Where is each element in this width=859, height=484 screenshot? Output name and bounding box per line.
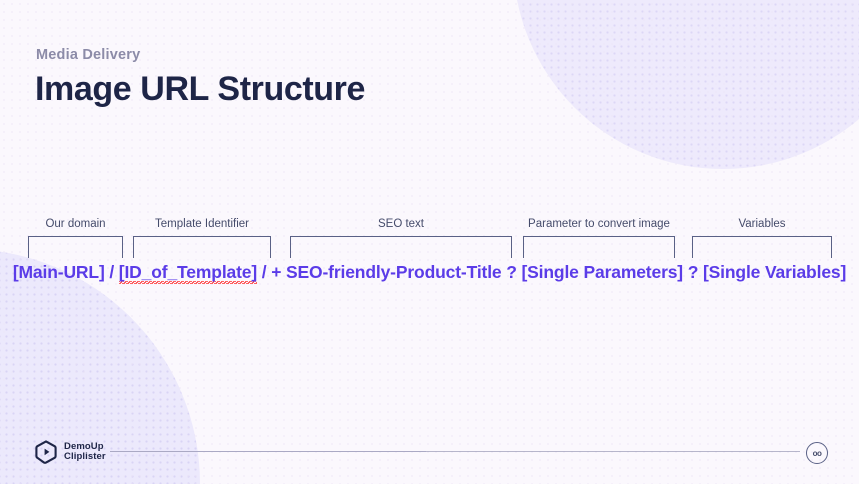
url-segment-bracket	[523, 236, 675, 258]
page-number-badge[interactable]: oo	[806, 442, 828, 464]
url-segment-label: Our domain	[28, 218, 123, 230]
url-token: [Single Variables]	[703, 262, 846, 282]
brand-logo-line2: Cliplister	[64, 451, 106, 462]
url-segment-bracket	[28, 236, 123, 258]
brand-logo-line1: DemoUp	[64, 441, 104, 452]
url-segment-bracket	[692, 236, 832, 258]
url-segment-label: Parameter to convert image	[523, 218, 675, 230]
url-segment-label: SEO text	[290, 218, 512, 230]
brand-logo-text: DemoUp Cliplister	[64, 442, 106, 463]
brand-logo: DemoUp Cliplister	[35, 440, 106, 464]
decorative-circle-top-right	[513, 0, 859, 169]
url-structure-text: [Main-URL] / [ID_of_Template] / + SEO-fr…	[0, 262, 859, 283]
page-title: Image URL Structure	[35, 70, 365, 109]
slide-canvas: Media Delivery Image URL Structure Our d…	[0, 0, 859, 484]
url-token: [Main-URL]	[13, 262, 105, 282]
url-token: / + SEO-friendly-Product-Title ?	[257, 262, 521, 282]
decorative-dots-top-right	[513, 0, 859, 169]
url-token-misspelled: [ID_of_Template]	[119, 262, 257, 284]
url-structure-diagram: Our domainTemplate IdentifierSEO textPar…	[0, 218, 859, 298]
url-segment-label: Variables	[692, 218, 832, 230]
slide-eyebrow: Media Delivery	[36, 47, 140, 63]
url-token: [Single Parameters]	[521, 262, 683, 282]
hexagon-play-icon	[35, 440, 57, 464]
url-token: ?	[683, 262, 703, 282]
url-token: /	[105, 262, 119, 282]
url-segment-bracket	[133, 236, 271, 258]
footer-divider-line	[110, 451, 800, 452]
url-segment-label: Template Identifier	[133, 218, 271, 230]
url-segment-bracket	[290, 236, 512, 258]
